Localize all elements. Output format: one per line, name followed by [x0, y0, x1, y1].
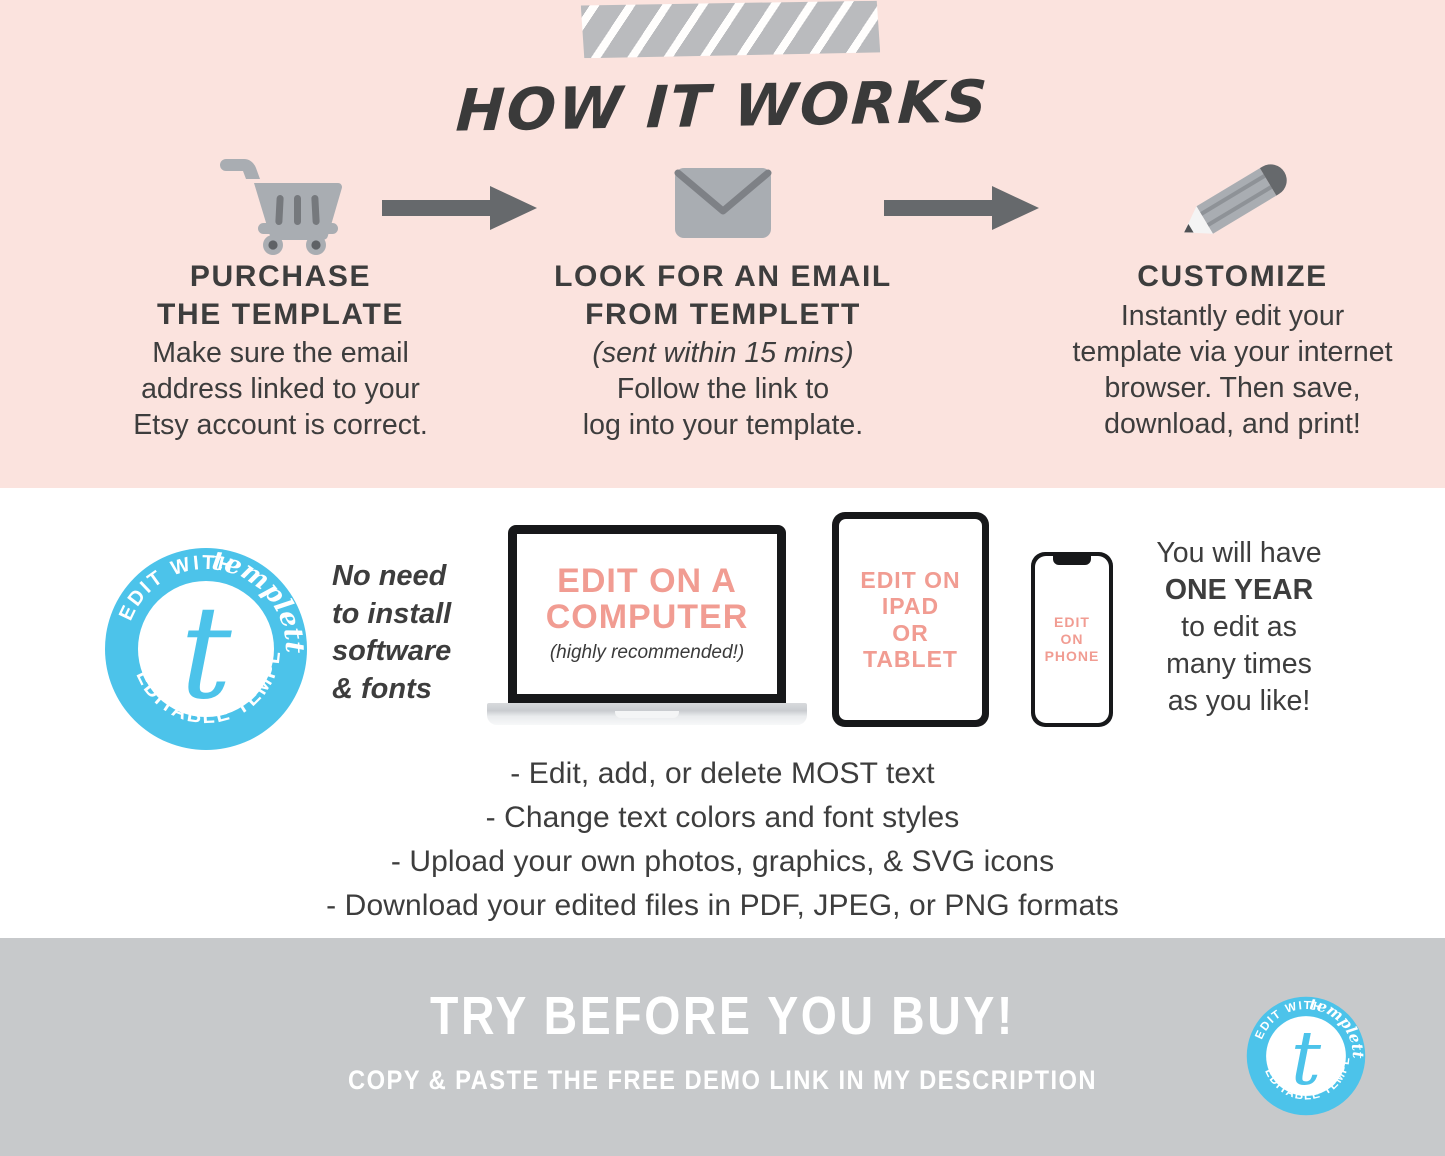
step-1-heading-line1: PURCHASE	[108, 258, 453, 296]
page-title: HOW IT WORKS	[0, 59, 1445, 152]
footer-subtitle: COPY & PASTE THE FREE DEMO LINK IN MY DE…	[87, 1065, 1359, 1096]
envelope-icon	[503, 148, 943, 258]
step-1-body-line1: Make sure the email	[108, 335, 453, 371]
step-1-heading-line2: THE TEMPLATE	[108, 296, 453, 334]
step-2-body-line2: Follow the link to	[503, 371, 943, 407]
one-year-line4: many times	[1118, 646, 1360, 683]
step-2-body-line3: log into your template.	[503, 407, 943, 443]
footer-title: TRY BEFORE YOU BUY!	[101, 985, 1344, 1047]
phone-title-line1: EDIT	[1045, 614, 1100, 631]
how-it-works-section: HOW IT WORKS	[0, 0, 1445, 488]
step-3-heading-line1: CUSTOMIZE	[1035, 258, 1430, 296]
tablet-title-line4: TABLET	[860, 646, 960, 672]
bullet-item: - Change text colors and font styles	[0, 796, 1445, 840]
no-need-line3: software	[332, 633, 482, 671]
bullet-item: - Edit, add, or delete MOST text	[0, 752, 1445, 796]
laptop-screen: EDIT ON A COMPUTER (highly recommended!)	[517, 534, 777, 694]
laptop-subtitle: (highly recommended!)	[550, 642, 744, 664]
step-3-body-line2: template via your internet	[1035, 334, 1430, 370]
washi-tape-decoration	[578, 1, 880, 59]
laptop-lid: EDIT ON A COMPUTER (highly recommended!)	[508, 525, 786, 705]
templett-badge-large: EDIT WITH templett EDITABLE TEMPLATE t	[102, 545, 310, 753]
laptop-title-line1: EDIT ON A	[546, 564, 749, 600]
tablet-mockup: EDIT ON IPAD OR TABLET	[832, 512, 989, 727]
step-3-body-line3: browser. Then save,	[1035, 370, 1430, 406]
step-3-body-line4: download, and print!	[1035, 406, 1430, 442]
phone-screen-title: EDIT ON PHONE	[1045, 614, 1100, 664]
one-year-text: You will have ONE YEAR to edit as many t…	[1118, 535, 1360, 720]
step-2-heading: LOOK FOR AN EMAIL FROM TEMPLETT	[503, 258, 943, 333]
templett-badge-small: EDIT WITH templett EDITABLE TEMPLATE t	[1245, 995, 1367, 1117]
step-3-body-line1: Instantly edit your	[1035, 298, 1430, 334]
one-year-emphasis: ONE YEAR	[1165, 574, 1313, 606]
tablet-title-line1: EDIT ON	[860, 567, 960, 593]
step-1-body-line3: Etsy account is correct.	[108, 407, 453, 443]
bullet-item: - Download your edited files in PDF, JPE…	[0, 884, 1445, 928]
no-need-line4: & fonts	[332, 671, 482, 709]
step-2-heading-line2: FROM TEMPLETT	[503, 296, 943, 334]
tablet-title-line3: OR	[860, 620, 960, 646]
laptop-title-line2: COMPUTER	[546, 600, 749, 636]
phone-mockup: EDIT ON PHONE	[1031, 552, 1113, 727]
step-1-body: Make sure the email address linked to yo…	[108, 335, 453, 444]
phone-screen: EDIT ON PHONE	[1035, 556, 1109, 723]
laptop-trackpad-notch	[615, 711, 679, 718]
arrow-right-icon-2	[884, 180, 1039, 236]
no-need-line1: No need	[332, 558, 482, 596]
phone-notch	[1053, 556, 1091, 565]
step-1-body-line2: address linked to your	[108, 371, 453, 407]
infographic-page: HOW IT WORKS	[0, 0, 1445, 1156]
phone-title-line2: ON	[1045, 631, 1100, 648]
no-need-text: No need to install software & fonts	[332, 558, 482, 709]
svg-text:t: t	[180, 579, 232, 728]
step-customize: CUSTOMIZE Instantly edit your template v…	[1035, 148, 1430, 442]
step-email: LOOK FOR AN EMAIL FROM TEMPLETT (sent wi…	[503, 148, 943, 444]
one-year-line5: as you like!	[1118, 683, 1360, 720]
one-year-line3: to edit as	[1118, 609, 1360, 646]
tablet-screen: EDIT ON IPAD OR TABLET	[839, 519, 982, 720]
no-need-line2: to install	[332, 596, 482, 634]
phone-title-line3: PHONE	[1045, 648, 1100, 665]
try-before-you-buy-footer: TRY BEFORE YOU BUY! COPY & PASTE THE FRE…	[0, 938, 1445, 1156]
pencil-icon	[1035, 148, 1430, 258]
step-2-body-italic: (sent within 15 mins)	[503, 335, 943, 371]
one-year-line1: You will have	[1118, 535, 1360, 572]
step-3-body: Instantly edit your template via your in…	[1035, 298, 1430, 443]
step-2-body: (sent within 15 mins) Follow the link to…	[503, 335, 943, 444]
tablet-screen-title: EDIT ON IPAD OR TABLET	[860, 567, 960, 673]
svg-text:t: t	[1291, 1014, 1322, 1102]
tablet-title-line2: IPAD	[860, 593, 960, 619]
step-1-heading: PURCHASE THE TEMPLATE	[108, 258, 453, 333]
laptop-mockup: EDIT ON A COMPUTER (highly recommended!)	[487, 525, 807, 733]
laptop-screen-title: EDIT ON A COMPUTER	[546, 564, 749, 635]
step-2-heading-line1: LOOK FOR AN EMAIL	[503, 258, 943, 296]
step-3-heading: CUSTOMIZE	[1035, 258, 1430, 296]
bullet-item: - Upload your own photos, graphics, & SV…	[0, 840, 1445, 884]
feature-bullet-list: - Edit, add, or delete MOST text - Chang…	[0, 752, 1445, 928]
